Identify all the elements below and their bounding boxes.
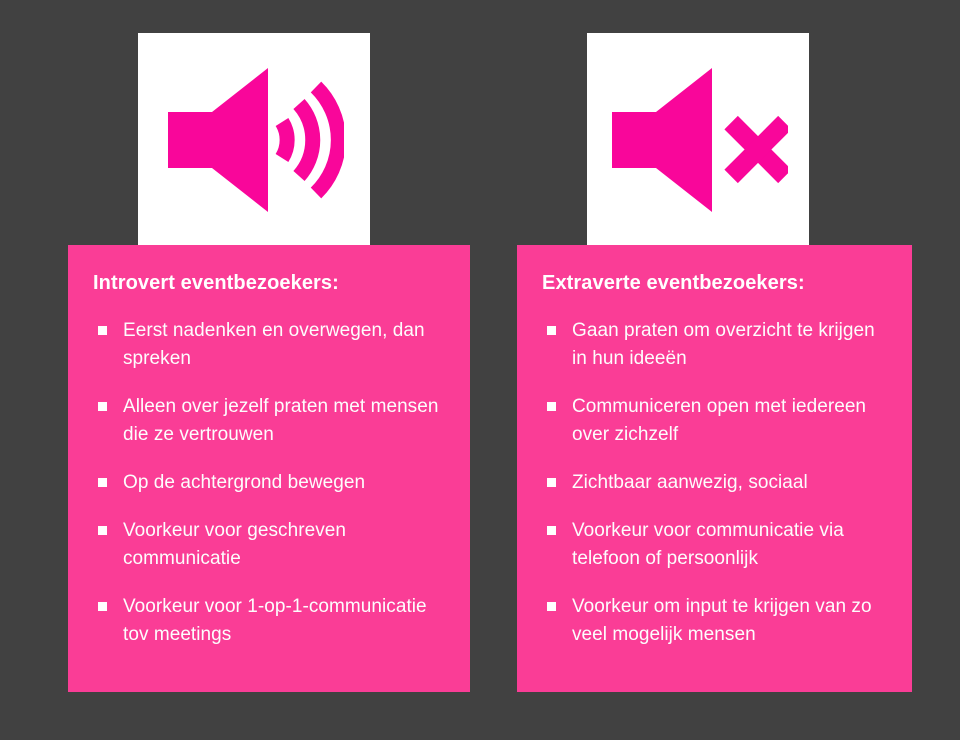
infographic-canvas: Introvert eventbezoekers: Eerst nadenken…	[0, 0, 960, 740]
list-item: Communiceren open met iedereen over zich…	[542, 393, 890, 449]
card-title-extravert: Extraverte eventbezoekers:	[542, 271, 890, 295]
bullet-square-icon	[547, 402, 556, 411]
speaker-muted-icon	[608, 60, 788, 220]
list-item: Voorkeur voor 1-op-1-communicatie tov me…	[93, 593, 448, 649]
list-item: Op de achtergrond bewegen	[93, 469, 448, 497]
bullet-square-icon	[98, 402, 107, 411]
list-item-label: Eerst nadenken en overwegen, dan spreken	[123, 320, 425, 369]
list-item-label: Gaan praten om overzicht te krijgen in h…	[572, 320, 875, 369]
card-introvert: Introvert eventbezoekers: Eerst nadenken…	[68, 245, 470, 692]
bullet-square-icon	[547, 478, 556, 487]
list-item-label: Communiceren open met iedereen over zich…	[572, 396, 866, 445]
card-title-introvert: Introvert eventbezoekers:	[93, 271, 448, 295]
list-item: Voorkeur voor geschreven communicatie	[93, 517, 448, 573]
bullet-square-icon	[98, 602, 107, 611]
bullet-list-introvert: Eerst nadenken en overwegen, dan spreken…	[93, 317, 448, 649]
bullet-list-extravert: Gaan praten om overzicht te krijgen in h…	[542, 317, 890, 649]
list-item-label: Zichtbaar aanwezig, sociaal	[572, 472, 808, 493]
list-item: Voorkeur voor communicatie via telefoon …	[542, 517, 890, 573]
list-item: Zichtbaar aanwezig, sociaal	[542, 469, 890, 497]
bullet-square-icon	[98, 326, 107, 335]
icon-plate-extravert	[587, 33, 809, 246]
bullet-square-icon	[547, 526, 556, 535]
bullet-square-icon	[98, 526, 107, 535]
list-item-label: Voorkeur voor geschreven communicatie	[123, 520, 346, 569]
list-item: Voorkeur om input te krijgen van zo veel…	[542, 593, 890, 649]
list-item-label: Op de achtergrond bewegen	[123, 472, 365, 493]
list-item-label: Voorkeur voor 1-op-1-communicatie tov me…	[123, 596, 427, 645]
speaker-volume-on-icon	[164, 60, 344, 220]
list-item-label: Voorkeur voor communicatie via telefoon …	[572, 520, 844, 569]
card-extravert: Extraverte eventbezoekers: Gaan praten o…	[517, 245, 912, 692]
list-item: Eerst nadenken en overwegen, dan spreken	[93, 317, 448, 373]
close-x-icon	[724, 115, 788, 182]
list-item: Gaan praten om overzicht te krijgen in h…	[542, 317, 890, 373]
list-item-label: Voorkeur om input te krijgen van zo veel…	[572, 596, 872, 645]
bullet-square-icon	[547, 602, 556, 611]
list-item: Alleen over jezelf praten met mensen die…	[93, 393, 448, 449]
icon-plate-introvert	[138, 33, 370, 246]
bullet-square-icon	[98, 478, 107, 487]
bullet-square-icon	[547, 326, 556, 335]
list-item-label: Alleen over jezelf praten met mensen die…	[123, 396, 438, 445]
